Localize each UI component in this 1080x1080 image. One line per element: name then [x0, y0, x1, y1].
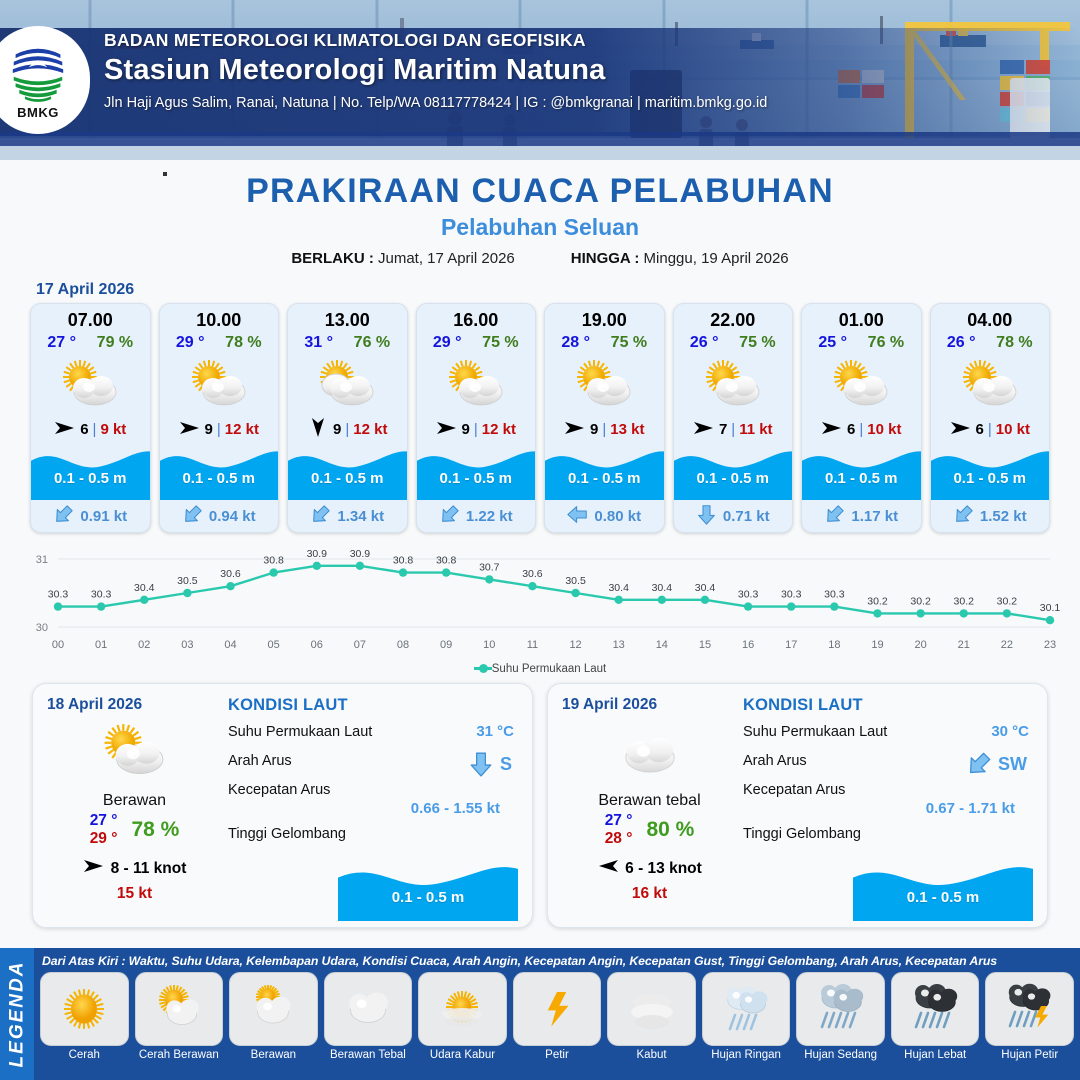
wind-speed: 7 — [719, 421, 727, 438]
card-temp-hum: 28 ° 75 % — [545, 334, 664, 352]
wind-range: 8 - 11 knot — [111, 860, 187, 878]
current-direction-icon — [567, 504, 588, 529]
gust-speed: 11 kt — [739, 421, 772, 438]
card-wave: 0.1 - 0.5 m — [802, 444, 921, 500]
card-temperature: 29 ° — [433, 334, 462, 352]
card-humidity: 78 % — [996, 334, 1032, 352]
card-temp-hum: 31 ° 76 % — [288, 334, 407, 352]
current-speed: 1.22 kt — [466, 508, 513, 525]
legend-item: Berawan — [229, 972, 318, 1078]
legend-bolt-icon — [513, 972, 602, 1046]
wind-speed: 9 — [462, 421, 470, 438]
card-current: 0.94 kt — [160, 500, 279, 532]
svg-text:30.6: 30.6 — [522, 568, 543, 580]
chart-legend: Suhu Permukaan Laut — [0, 663, 1080, 675]
card-current: 1.22 kt — [417, 500, 536, 532]
card-time: 13.00 — [288, 310, 407, 331]
svg-text:30.2: 30.2 — [954, 595, 975, 607]
card-wind: 9 | 13 kt — [545, 416, 664, 442]
day-wind: 8 - 11 knot — [47, 856, 222, 881]
legend-item: Udara Kabur — [418, 972, 507, 1078]
svg-text:17: 17 — [785, 639, 797, 651]
current-speed-label: Kecepatan Arus — [743, 782, 845, 798]
svg-text:30.3: 30.3 — [781, 589, 802, 601]
card-humidity: 79 % — [97, 334, 133, 352]
sst-label: Suhu Permukaan Laut — [228, 724, 372, 740]
legend-item: Kabut — [607, 972, 696, 1078]
wind-direction-icon — [436, 418, 458, 441]
forecast-card: 10.00 29 ° 78 % 9 | 12 kt 0.1 - 0.5 m 0 — [159, 303, 280, 533]
svg-text:11: 11 — [527, 639, 538, 651]
card-time: 19.00 — [545, 310, 664, 331]
wave-height: 0.1 - 0.5 m — [160, 470, 279, 487]
current-direction-text: S — [500, 754, 512, 775]
svg-text:30.2: 30.2 — [997, 595, 1018, 607]
current-direction-icon — [310, 504, 331, 529]
svg-text:04: 04 — [224, 639, 236, 651]
weather-cerah-berawan-icon — [31, 354, 150, 416]
legend-item: Hujan Lebat — [891, 972, 980, 1078]
wind-direction-icon — [564, 418, 586, 441]
day-date: 19 April 2026 — [562, 696, 737, 714]
legend-item-label: Kabut — [637, 1049, 667, 1062]
header-strip-light — [0, 146, 1080, 160]
sst-value: 31 °C — [476, 723, 514, 740]
svg-text:30.3: 30.3 — [824, 589, 845, 601]
legend-bar: LEGENDA Dari Atas Kiri : Waktu, Suhu Uda… — [0, 948, 1080, 1080]
header-text-block: BADAN METEOROLOGI KLIMATOLOGI DAN GEOFIS… — [104, 30, 767, 111]
hingga-value: Minggu, 19 April 2026 — [644, 250, 789, 267]
sst-chart: 303130.30030.30130.40230.50330.60430.805… — [16, 543, 1064, 661]
station-name: Stasiun Meteorologi Maritim Natuna — [104, 54, 767, 87]
wave-height: 0.1 - 0.5 m — [31, 470, 150, 487]
page-header: BMKG BADAN METEOROLOGI KLIMATOLOGI DAN G… — [0, 0, 1080, 160]
card-humidity: 76 % — [868, 334, 904, 352]
day-summary: 19 April 2026 Berawan tebal 27 ° 28 ° 80… — [562, 696, 737, 917]
svg-text:01: 01 — [95, 639, 107, 651]
wind-direction-icon — [54, 418, 76, 441]
bmkg-logo-text: BMKG — [17, 105, 59, 120]
card-humidity: 78 % — [225, 334, 261, 352]
daily-panels: 18 April 2026 Berawan 27 ° 29 ° 78 % 8 -… — [0, 675, 1080, 928]
daily-forecast-panel: 18 April 2026 Berawan 27 ° 29 ° 78 % 8 -… — [32, 683, 533, 928]
day-wave-graphic: 0.1 - 0.5 m — [338, 859, 518, 921]
current-speed: 0.80 kt — [594, 508, 641, 525]
temp-min: 27 ° — [90, 812, 118, 830]
current-direction-icon — [182, 504, 203, 529]
legend-rain-heavy-icon — [891, 972, 980, 1046]
weather-cerah-berawan-icon — [802, 354, 921, 416]
wind-direction-icon — [83, 856, 105, 881]
legend-item-label: Hujan Petir — [1001, 1049, 1058, 1062]
legend-item: Berawan Tebal — [324, 972, 413, 1078]
sea-conditions: KONDISI LAUT Suhu Permukaan Laut 31 °C A… — [222, 696, 518, 917]
svg-text:30.5: 30.5 — [177, 575, 198, 587]
svg-text:15: 15 — [699, 639, 711, 651]
day-condition: Berawan tebal — [562, 792, 737, 810]
current-direction-label: Arah Arus — [743, 753, 807, 769]
weather-cerah-berawan-icon — [931, 354, 1050, 416]
berlaku-value: Jumat, 17 April 2026 — [378, 250, 515, 267]
card-time: 22.00 — [674, 310, 793, 331]
temp-range: 27 ° 28 ° — [605, 812, 633, 848]
legend-item: Cerah — [40, 972, 129, 1078]
temp-min: 27 ° — [605, 812, 633, 830]
card-humidity: 75 % — [739, 334, 775, 352]
legend-sun-icon — [40, 972, 129, 1046]
svg-text:30.4: 30.4 — [134, 582, 155, 594]
card-temperature: 27 ° — [47, 334, 76, 352]
legend-item: Hujan Sedang — [796, 972, 885, 1078]
wind-direction-icon — [179, 418, 201, 441]
legend-rain-light-icon — [702, 972, 791, 1046]
svg-text:30: 30 — [36, 622, 48, 634]
svg-text:30.9: 30.9 — [307, 548, 328, 560]
weather-cerah-berawan-icon — [545, 354, 664, 416]
hingga: HINGGA : Minggu, 19 April 2026 — [571, 250, 789, 267]
legend-item: Petir — [513, 972, 602, 1078]
wind-direction-icon — [597, 856, 619, 881]
legend-item-row: Cerah Cerah Berawan Berawan Berawan Teba… — [34, 972, 1080, 1080]
card-temperature: 31 ° — [304, 334, 333, 352]
svg-text:30.8: 30.8 — [393, 555, 414, 567]
day-date: 18 April 2026 — [47, 696, 222, 714]
forecast-card: 13.00 31 ° 76 % 9 | 12 kt 0.1 - 0.5 m 1 — [287, 303, 408, 533]
forecast-card: 19.00 28 ° 75 % 9 | 13 kt 0.1 - 0.5 m 0 — [544, 303, 665, 533]
current-speed-label: Kecepatan Arus — [228, 782, 330, 798]
card-current: 1.52 kt — [931, 500, 1050, 532]
legend-cloud-sun-small-icon — [229, 972, 318, 1046]
header-strip — [0, 132, 1080, 146]
gust-speed: 10 kt — [996, 421, 1030, 438]
wind-speed: 6 — [847, 421, 855, 438]
legend-item-label: Cerah — [69, 1049, 100, 1062]
weather-cerah-berawan-icon — [674, 354, 793, 416]
wave-height: 0.1 - 0.5 m — [417, 470, 536, 487]
card-wave: 0.1 - 0.5 m — [31, 444, 150, 500]
current-speed: 0.94 kt — [209, 508, 256, 525]
legend-rain-moderate-icon — [796, 972, 885, 1046]
wind-direction-icon — [821, 418, 843, 441]
svg-text:18: 18 — [828, 639, 840, 651]
berlaku-label: BERLAKU : — [291, 250, 374, 267]
wave-height: 0.1 - 0.5 m — [931, 470, 1050, 487]
svg-text:30.4: 30.4 — [695, 582, 716, 594]
gust-speed: 12 kt — [225, 421, 259, 438]
legend-haze-icon — [418, 972, 507, 1046]
svg-text:00: 00 — [52, 639, 64, 651]
svg-text:31: 31 — [36, 554, 48, 566]
wave-height: 0.1 - 0.5 m — [674, 470, 793, 487]
svg-text:20: 20 — [914, 639, 926, 651]
legend-item-label: Petir — [545, 1049, 569, 1062]
contact-info: Jln Haji Agus Salim, Ranai, Natuna | No.… — [104, 95, 767, 111]
legend-note: Dari Atas Kiri : Waktu, Suhu Udara, Kele… — [34, 948, 1080, 972]
wind-range: 6 - 13 knot — [625, 860, 702, 878]
legend-item-label: Hujan Sedang — [804, 1049, 877, 1062]
sst-chart-svg: 303130.30030.30130.40230.50330.60430.805… — [16, 543, 1064, 657]
wave-label: Tinggi Gelombang — [228, 826, 346, 842]
svg-text:16: 16 — [742, 639, 754, 651]
forecast-card: 01.00 25 ° 76 % 6 | 10 kt 0.1 - 0.5 m 1 — [801, 303, 922, 533]
forecast-date-label: 17 April 2026 — [36, 281, 1080, 299]
legend-item: Hujan Petir — [985, 972, 1074, 1078]
card-temp-hum: 25 ° 76 % — [802, 334, 921, 352]
wave-height: 0.1 - 0.5 m — [545, 470, 664, 487]
gust-speed: 12 kt — [353, 421, 387, 438]
card-wave: 0.1 - 0.5 m — [160, 444, 279, 500]
weather-cerah-berawan-icon — [47, 720, 222, 784]
legend-item: Hujan Ringan — [702, 972, 791, 1078]
day-humidity: 78 % — [131, 818, 179, 842]
gust-speed: 9 kt — [100, 421, 126, 438]
separator: | — [217, 421, 221, 438]
card-wind: 6 | 10 kt — [802, 416, 921, 442]
day-temps: 27 ° 28 ° 80 % — [562, 812, 737, 848]
wave-height: 0.1 - 0.5 m — [802, 470, 921, 487]
card-current: 0.71 kt — [674, 500, 793, 532]
legenda-label: LEGENDA — [6, 961, 28, 1068]
sst-label: Suhu Permukaan Laut — [743, 724, 887, 740]
svg-text:30.2: 30.2 — [867, 595, 888, 607]
svg-text:08: 08 — [397, 639, 409, 651]
wind-speed: 6 — [976, 421, 984, 438]
wind-speed: 9 — [333, 421, 341, 438]
svg-text:06: 06 — [311, 639, 323, 651]
sst-row: Suhu Permukaan Laut 30 °C — [743, 724, 1033, 744]
arrow-down-icon — [468, 751, 494, 777]
day-condition: Berawan — [47, 792, 222, 810]
svg-text:30.3: 30.3 — [738, 589, 759, 601]
current-direction-value: S — [468, 751, 512, 777]
svg-text:10: 10 — [483, 639, 495, 651]
separator: | — [859, 421, 863, 438]
current-direction-icon — [953, 504, 974, 529]
card-time: 01.00 — [802, 310, 921, 331]
card-wave: 0.1 - 0.5 m — [288, 444, 407, 500]
bmkg-logo-icon — [10, 42, 66, 104]
separator: | — [474, 421, 478, 438]
wind-speed: 9 — [590, 421, 598, 438]
day-wave-value: 0.1 - 0.5 m — [338, 889, 518, 906]
day-gust: 15 kt — [47, 885, 222, 903]
card-current: 0.80 kt — [545, 500, 664, 532]
current-direction-icon — [53, 504, 74, 529]
sea-conditions-title: KONDISI LAUT — [228, 696, 518, 715]
card-wave: 0.1 - 0.5 m — [674, 444, 793, 500]
card-current: 1.17 kt — [802, 500, 921, 532]
card-wind: 9 | 12 kt — [160, 416, 279, 442]
port-name: Pelabuhan Seluan — [0, 214, 1080, 241]
card-wind: 6 | 9 kt — [31, 416, 150, 442]
card-time: 04.00 — [931, 310, 1050, 331]
gust-speed: 12 kt — [482, 421, 516, 438]
card-humidity: 75 % — [482, 334, 518, 352]
separator: | — [602, 421, 606, 438]
temp-max: 29 ° — [90, 830, 118, 848]
current-speed: 1.17 kt — [851, 508, 898, 525]
legend-item-label: Berawan — [251, 1049, 296, 1062]
wind-direction-icon — [693, 418, 715, 441]
card-temperature: 26 ° — [690, 334, 719, 352]
gust-speed: 10 kt — [867, 421, 901, 438]
legend-item-label: Berawan Tebal — [330, 1049, 406, 1062]
gust-speed: 13 kt — [610, 421, 644, 438]
card-time: 07.00 — [31, 310, 150, 331]
forecast-card: 22.00 26 ° 75 % 7 | 11 kt 0.1 - 0.5 m 0 — [673, 303, 794, 533]
card-wave: 0.1 - 0.5 m — [931, 444, 1050, 500]
separator: | — [345, 421, 349, 438]
svg-text:30.4: 30.4 — [652, 582, 673, 594]
current-speed: 1.34 kt — [337, 508, 384, 525]
current-speed-row: Kecepatan Arus 0.67 - 1.71 kt — [743, 782, 1033, 817]
svg-text:21: 21 — [958, 639, 970, 651]
card-wind: 9 | 12 kt — [417, 416, 536, 442]
card-wind: 9 | 12 kt — [288, 416, 407, 442]
sst-value: 30 °C — [991, 723, 1029, 740]
day-temps: 27 ° 29 ° 78 % — [47, 812, 222, 848]
svg-text:07: 07 — [354, 639, 366, 651]
card-temperature: 28 ° — [561, 334, 590, 352]
temp-range: 27 ° 29 ° — [90, 812, 118, 848]
svg-text:12: 12 — [569, 639, 581, 651]
current-direction-row: Arah Arus SW — [743, 753, 1033, 773]
svg-text:19: 19 — [871, 639, 883, 651]
svg-text:30.8: 30.8 — [436, 555, 457, 567]
legend-fog-icon — [607, 972, 696, 1046]
berlaku: BERLAKU : Jumat, 17 April 2026 — [291, 250, 514, 267]
svg-text:30.2: 30.2 — [910, 595, 931, 607]
current-speed-value: 0.67 - 1.71 kt — [743, 800, 1033, 817]
card-temperature: 25 ° — [818, 334, 847, 352]
validity-row: BERLAKU : Jumat, 17 April 2026 HINGGA : … — [0, 250, 1080, 267]
day-wave-value: 0.1 - 0.5 m — [853, 889, 1033, 906]
svg-text:23: 23 — [1044, 639, 1056, 651]
wave-height: 0.1 - 0.5 m — [288, 470, 407, 487]
weather-cerah-berawan-icon — [160, 354, 279, 416]
svg-text:22: 22 — [1001, 639, 1013, 651]
day-humidity: 80 % — [646, 818, 694, 842]
page-title: PRAKIRAAN CUACA PELABUHAN — [0, 172, 1080, 211]
legend-item-label: Udara Kabur — [430, 1049, 495, 1062]
wind-direction-icon — [950, 418, 972, 441]
card-temp-hum: 26 ° 75 % — [674, 334, 793, 352]
title-block: PRAKIRAAN CUACA PELABUHAN Pelabuhan Selu… — [0, 172, 1080, 267]
card-time: 10.00 — [160, 310, 279, 331]
current-direction-icon — [824, 504, 845, 529]
card-wind: 6 | 10 kt — [931, 416, 1050, 442]
arrow-down-left-icon — [966, 751, 992, 777]
current-direction-icon — [439, 504, 460, 529]
card-temperature: 29 ° — [176, 334, 205, 352]
legend-item-label: Hujan Ringan — [711, 1049, 781, 1062]
sea-conditions: KONDISI LAUT Suhu Permukaan Laut 30 °C A… — [737, 696, 1033, 917]
wind-speed: 6 — [80, 421, 88, 438]
card-temperature: 26 ° — [947, 334, 976, 352]
current-speed-value: 0.66 - 1.55 kt — [228, 800, 518, 817]
separator: | — [731, 421, 735, 438]
wind-speed: 9 — [205, 421, 213, 438]
temp-max: 28 ° — [605, 830, 633, 848]
svg-text:30.7: 30.7 — [479, 561, 500, 573]
day-summary: 18 April 2026 Berawan 27 ° 29 ° 78 % 8 -… — [47, 696, 222, 917]
legenda-sidebar: LEGENDA — [0, 948, 34, 1080]
card-wind: 7 | 11 kt — [674, 416, 793, 442]
card-temp-hum: 27 ° 79 % — [31, 334, 150, 352]
current-speed: 0.91 kt — [80, 508, 127, 525]
weather-cerah-berawan-icon — [417, 354, 536, 416]
separator: | — [93, 421, 97, 438]
card-wave: 0.1 - 0.5 m — [417, 444, 536, 500]
svg-text:13: 13 — [613, 639, 625, 651]
wave-row: Tinggi Gelombang — [228, 826, 518, 846]
current-direction-icon — [696, 504, 717, 529]
current-direction-label: Arah Arus — [228, 753, 292, 769]
forecast-card-row: 07.00 27 ° 79 % 6 | 9 kt 0.1 - 0.5 m 0. — [0, 303, 1080, 533]
svg-text:30.5: 30.5 — [565, 575, 586, 587]
svg-text:30.9: 30.9 — [350, 548, 371, 560]
svg-text:30.4: 30.4 — [608, 582, 629, 594]
sea-conditions-title: KONDISI LAUT — [743, 696, 1033, 715]
weather-berawan-tebal-icon — [562, 720, 737, 784]
svg-text:30.3: 30.3 — [48, 589, 69, 601]
card-temp-hum: 26 ° 78 % — [931, 334, 1050, 352]
svg-text:02: 02 — [138, 639, 150, 651]
svg-text:30.6: 30.6 — [220, 568, 241, 580]
separator: | — [988, 421, 992, 438]
wind-direction-icon — [307, 418, 329, 441]
card-time: 16.00 — [417, 310, 536, 331]
card-temp-hum: 29 ° 75 % — [417, 334, 536, 352]
svg-text:30.1: 30.1 — [1040, 602, 1061, 614]
weather-berawan-icon — [288, 354, 407, 416]
hingga-label: HINGGA : — [571, 250, 640, 267]
legend-label: Suhu Permukaan Laut — [492, 663, 606, 675]
svg-text:09: 09 — [440, 639, 452, 651]
legend-sun-cloud-icon — [135, 972, 224, 1046]
current-speed-row: Kecepatan Arus 0.66 - 1.55 kt — [228, 782, 518, 817]
stray-dot — [163, 172, 167, 176]
forecast-card: 16.00 29 ° 75 % 9 | 12 kt 0.1 - 0.5 m 1 — [416, 303, 537, 533]
legend-cloud-icon — [324, 972, 413, 1046]
day-wind: 6 - 13 knot — [562, 856, 737, 881]
current-speed: 1.52 kt — [980, 508, 1027, 525]
legend-item-label: Hujan Lebat — [904, 1049, 966, 1062]
legend-item-label: Cerah Berawan — [139, 1049, 219, 1062]
svg-text:03: 03 — [181, 639, 193, 651]
wave-label: Tinggi Gelombang — [743, 826, 861, 842]
card-current: 0.91 kt — [31, 500, 150, 532]
org-name: BADAN METEOROLOGI KLIMATOLOGI DAN GEOFIS… — [104, 30, 767, 51]
legend-rain-thunder-icon — [985, 972, 1074, 1046]
wave-row: Tinggi Gelombang — [743, 826, 1033, 846]
legend-dot — [479, 664, 488, 673]
forecast-card: 07.00 27 ° 79 % 6 | 9 kt 0.1 - 0.5 m 0. — [30, 303, 151, 533]
legend-body: Dari Atas Kiri : Waktu, Suhu Udara, Kele… — [34, 948, 1080, 1080]
svg-text:05: 05 — [268, 639, 280, 651]
card-humidity: 75 % — [611, 334, 647, 352]
card-current: 1.34 kt — [288, 500, 407, 532]
current-direction-value: SW — [966, 751, 1027, 777]
sst-row: Suhu Permukaan Laut 31 °C — [228, 724, 518, 744]
card-humidity: 76 % — [354, 334, 390, 352]
svg-text:14: 14 — [656, 639, 668, 651]
svg-text:30.3: 30.3 — [91, 589, 112, 601]
card-temp-hum: 29 ° 78 % — [160, 334, 279, 352]
forecast-card: 04.00 26 ° 78 % 6 | 10 kt 0.1 - 0.5 m 1 — [930, 303, 1051, 533]
svg-text:30.8: 30.8 — [263, 555, 284, 567]
current-speed: 0.71 kt — [723, 508, 770, 525]
